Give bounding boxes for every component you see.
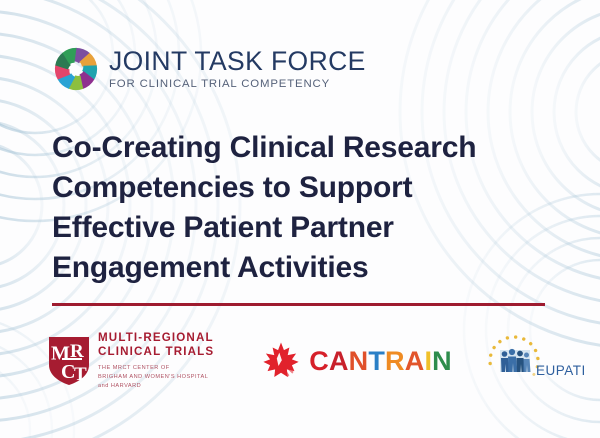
cantrain-letter-2: A bbox=[329, 346, 349, 376]
headline-line-2: Competencies to Support bbox=[52, 168, 562, 208]
headline-line-1: Co-Creating Clinical Research bbox=[52, 128, 562, 168]
mrct-fine-line-2: BRIGHAM AND WOMEN'S HOSPITAL bbox=[98, 373, 214, 382]
slide-headline: Co-Creating Clinical Research Competenci… bbox=[52, 128, 562, 288]
cantrain-letter-1: C bbox=[309, 346, 329, 376]
partner-logo-mrct: M R C T MULTI-REGIONAL CLINICAL TRIALS T… bbox=[48, 331, 214, 390]
cantrain-letter-6: A bbox=[405, 346, 425, 376]
accent-divider bbox=[52, 303, 545, 306]
partner-logo-row: M R C T MULTI-REGIONAL CLINICAL TRIALS T… bbox=[0, 326, 600, 396]
joint-task-force-logo: JOINT TASK FORCE FOR CLINICAL TRIAL COMP… bbox=[52, 45, 366, 93]
cantrain-wordmark: CANTRAIN bbox=[309, 348, 452, 375]
mrct-line-2: CLINICAL TRIALS bbox=[98, 345, 214, 359]
headline-line-4: Engagement Activities bbox=[52, 248, 562, 288]
mrct-fine-print: THE MRCT CENTER OF BRIGHAM AND WOMEN'S H… bbox=[98, 364, 214, 391]
cantrain-letter-7: I bbox=[424, 346, 432, 376]
maple-leaf-icon bbox=[260, 340, 302, 382]
svg-text:T: T bbox=[74, 364, 87, 385]
cantrain-letter-4: T bbox=[368, 346, 385, 376]
eupati-figures-stars-icon: EUPATI bbox=[488, 333, 593, 389]
cantrain-letter-3: N bbox=[349, 346, 369, 376]
mrct-fine-line-1: THE MRCT CENTER OF bbox=[98, 364, 214, 373]
mrct-fine-line-3: and HARVARD bbox=[98, 382, 214, 391]
mrct-shield-icon: M R C T bbox=[48, 336, 90, 386]
joint-task-force-aperture-icon bbox=[52, 45, 100, 93]
cantrain-letter-8: N bbox=[432, 346, 452, 376]
partner-logo-cantrain: CANTRAIN bbox=[260, 340, 452, 382]
svg-text:C: C bbox=[61, 361, 75, 383]
jtf-subtitle: FOR CLINICAL TRIAL COMPETENCY bbox=[109, 78, 366, 90]
partner-logo-eupati: EUPATI bbox=[488, 333, 593, 389]
headline-line-3: Effective Patient Partner bbox=[52, 208, 562, 248]
mrct-line-1: MULTI-REGIONAL bbox=[98, 331, 214, 345]
svg-text:EUPATI: EUPATI bbox=[536, 363, 586, 378]
cantrain-letter-5: R bbox=[385, 346, 405, 376]
jtf-title: JOINT TASK FORCE bbox=[109, 48, 366, 76]
presentation-slide: JOINT TASK FORCE FOR CLINICAL TRIAL COMP… bbox=[0, 0, 600, 438]
